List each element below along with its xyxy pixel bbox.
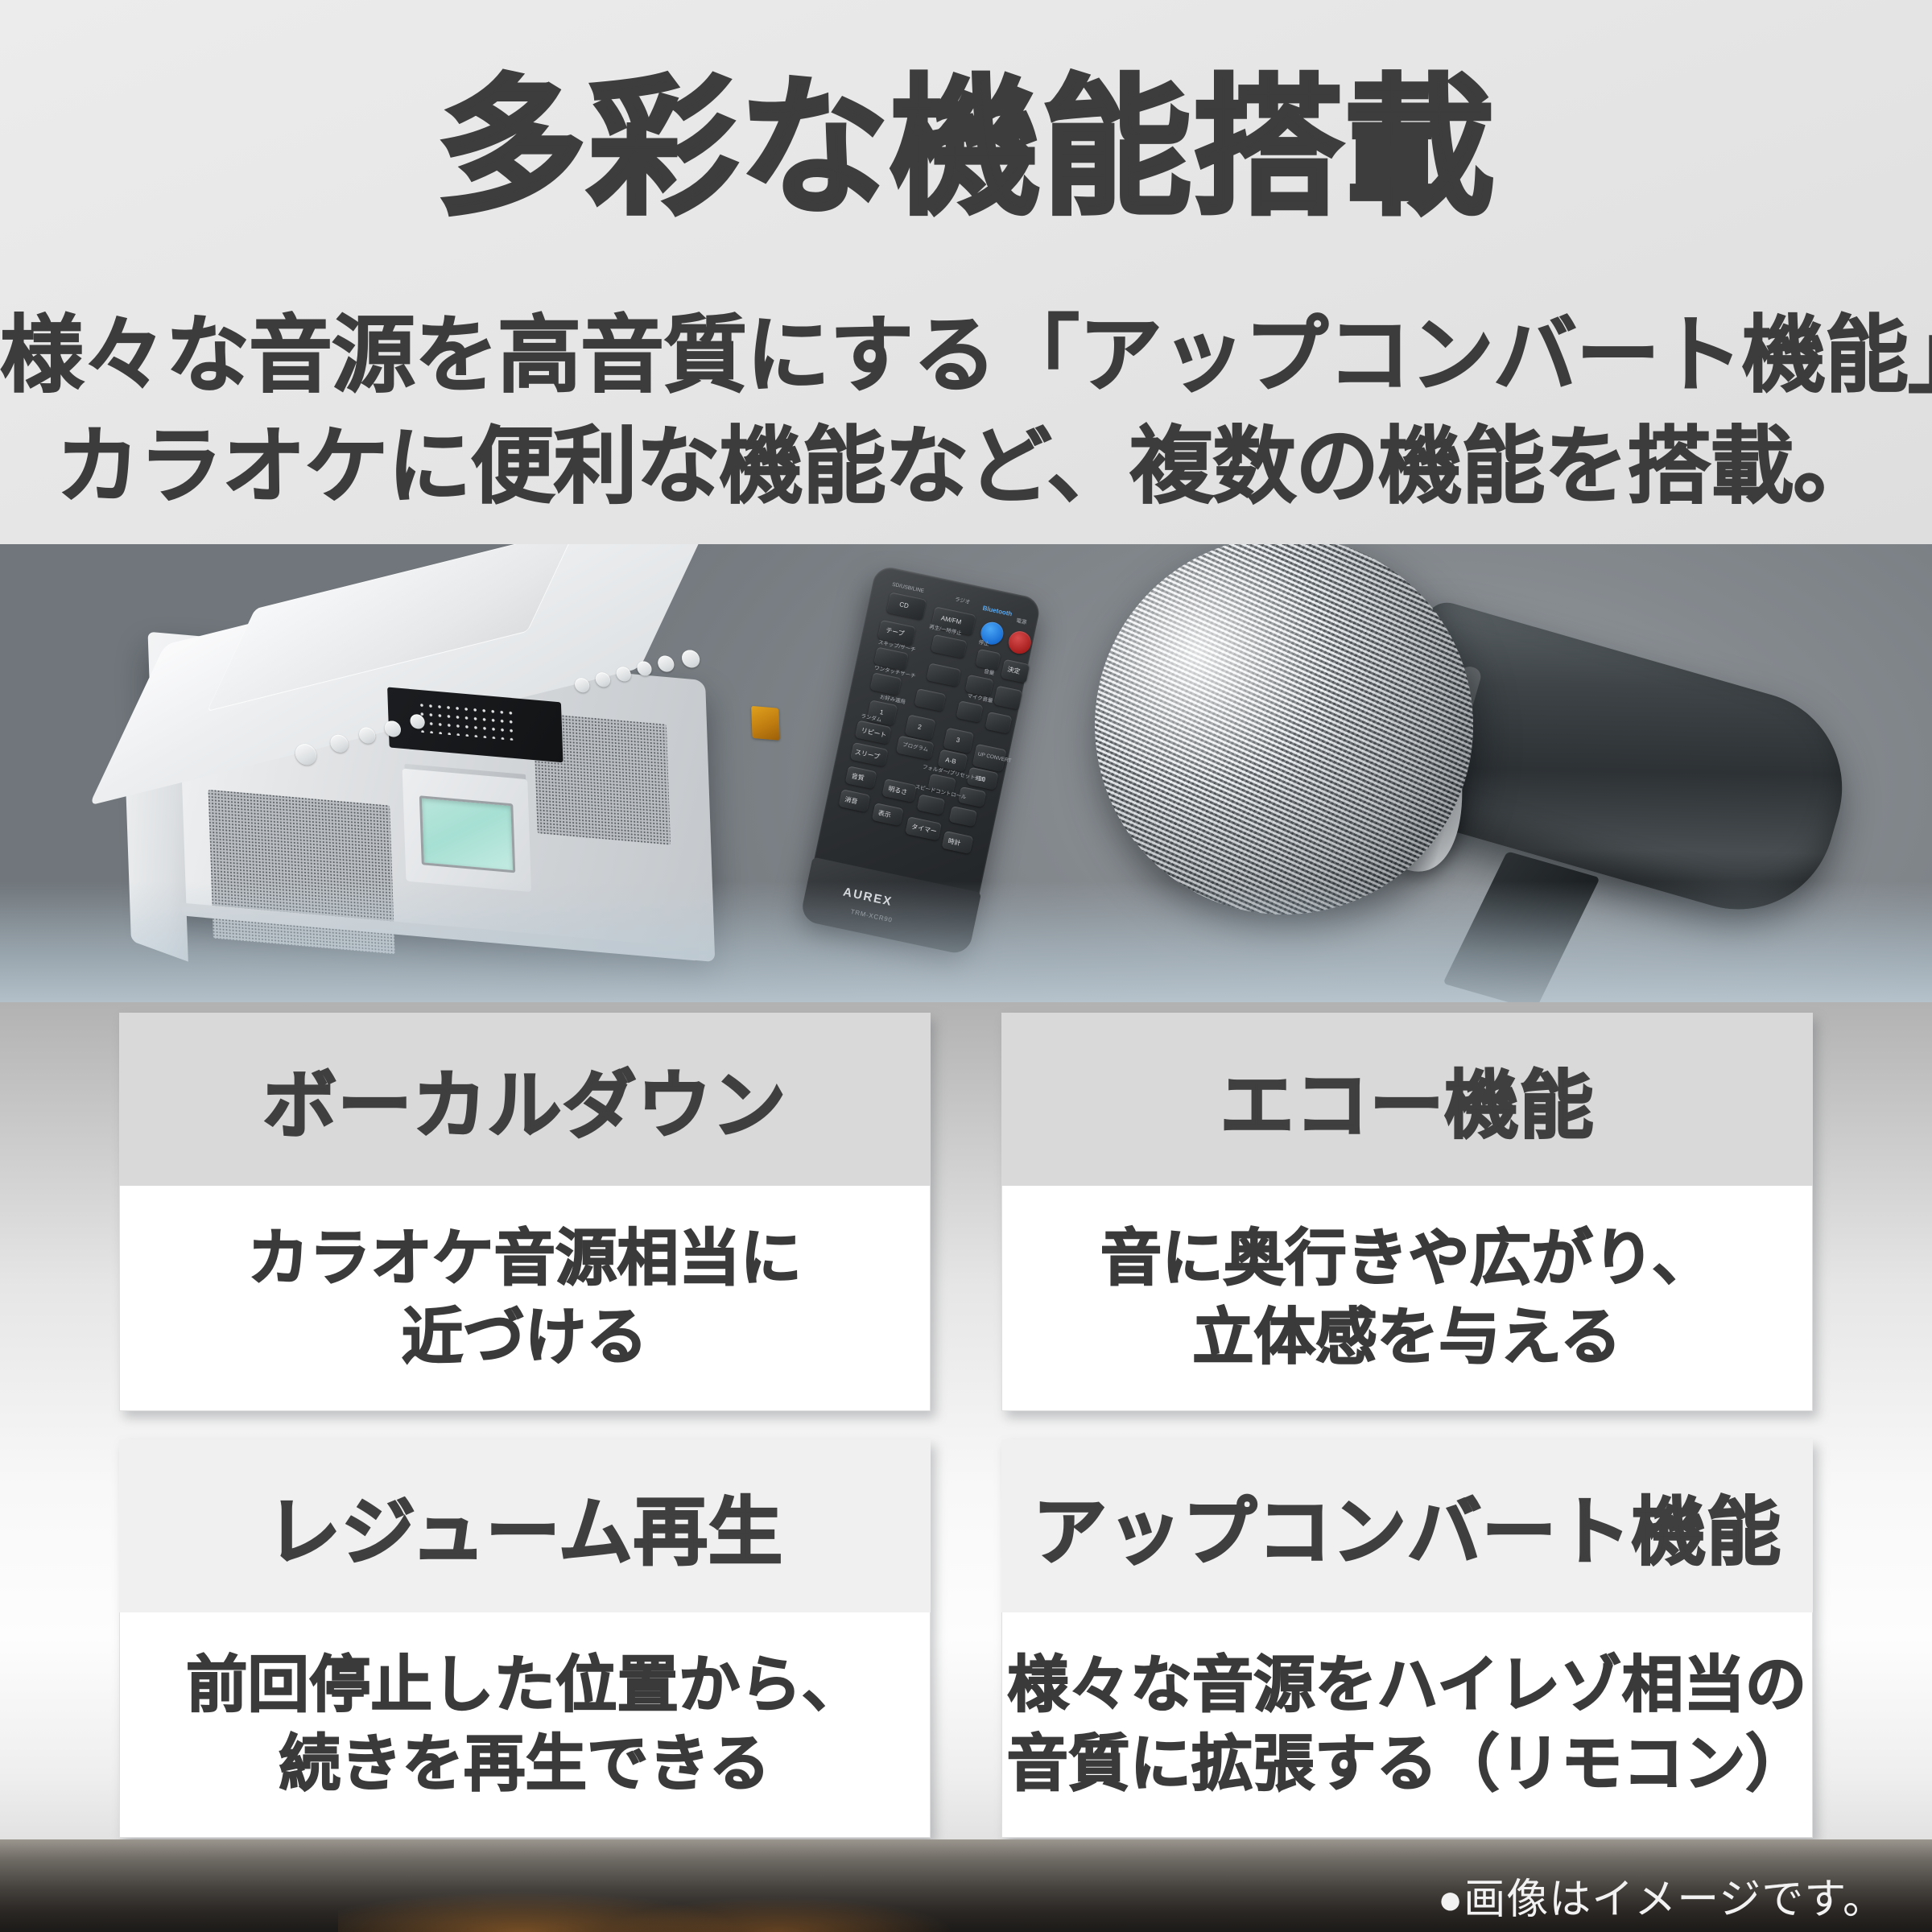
- feature-description: カラオケ音源相当に 近づける: [248, 1220, 803, 1377]
- footer-band: ●画像はイメージです。: [0, 1839, 1932, 1932]
- feature-card-header: エコー機能: [1001, 1013, 1813, 1186]
- boombox-skip-forward-button[interactable]: [658, 655, 675, 673]
- page-title: 多彩な機能搭載: [0, 74, 1932, 224]
- feature-title: レジューム再生: [266, 1472, 783, 1579]
- feature-title: エコー機能: [1220, 1046, 1594, 1153]
- image-disclaimer: ●画像はイメージです。: [1438, 1865, 1885, 1926]
- subtitle-line-1: 様々な音源を高音質にする「アップコンバート機能」や、: [0, 314, 1932, 398]
- boombox-speaker-grille-left: [208, 790, 394, 955]
- feature-card-up-convert[interactable]: アップコンバート機能 様々な音源をハイレゾ相当の 音質に拡張する（リモコン）: [1001, 1439, 1813, 1838]
- subtitle-line-2: カラオケに便利な機能など、複数の機能を搭載。: [0, 425, 1932, 509]
- feature-card-header: アップコンバート機能: [1001, 1439, 1813, 1612]
- feature-card-resume-play[interactable]: レジューム再生 前回停止した位置から、 続きを再生できる: [119, 1439, 931, 1838]
- feature-grid: ボーカルダウン カラオケ音源相当に 近づける エコー機能 音に奥行きや広がり、 …: [119, 1013, 1813, 1838]
- feature-card-body: 音に奥行きや広がり、 立体感を与える: [1001, 1186, 1813, 1411]
- hi-res-audio-badge: [751, 706, 780, 741]
- remote-brand-logo: AUREX: [842, 885, 894, 910]
- feature-card-body: 様々な音源をハイレゾ相当の 音質に拡張する（リモコン）: [1001, 1612, 1813, 1838]
- remote-control-image: SD/USB/LINE ラジオ Bluetooth 電源 CD AM/FM テー…: [802, 564, 1042, 954]
- product-photo-band: SD/USB/LINE ラジオ Bluetooth 電源 CD AM/FM テー…: [0, 544, 1932, 1002]
- boombox-volume-knob[interactable]: [682, 650, 700, 669]
- feature-title: アップコンバート機能: [1033, 1472, 1781, 1579]
- feature-card-vocal-down[interactable]: ボーカルダウン カラオケ音源相当に 近づける: [119, 1013, 931, 1411]
- boombox-base: [181, 902, 699, 960]
- header-band: 多彩な機能搭載 様々な音源を高音質にする「アップコンバート機能」や、 カラオケに…: [0, 0, 1932, 544]
- microphone-stand: [1443, 851, 1600, 1002]
- feature-description: 様々な音源をハイレゾ相当の 音質に拡張する（リモコン）: [1007, 1646, 1808, 1803]
- ad-page: 多彩な機能搭載 様々な音源を高音質にする「アップコンバート機能」や、 カラオケに…: [0, 0, 1932, 1932]
- feature-description: 音に奥行きや広がり、 立体感を与える: [1100, 1220, 1714, 1377]
- feature-card-echo[interactable]: エコー機能 音に奥行きや広がり、 立体感を与える: [1001, 1013, 1813, 1411]
- feature-card-body: カラオケ音源相当に 近づける: [119, 1186, 931, 1411]
- boombox-image: [97, 547, 804, 1002]
- feature-title: ボーカルダウン: [262, 1046, 786, 1153]
- feature-card-body: 前回停止した位置から、 続きを再生できる: [119, 1612, 931, 1838]
- feature-cards-band: ボーカルダウン カラオケ音源相当に 近づける エコー機能 音に奥行きや広がり、 …: [0, 1002, 1932, 1839]
- feature-card-header: レジューム再生: [119, 1439, 931, 1612]
- boombox-lcd-screen: [419, 795, 515, 873]
- feature-card-header: ボーカルダウン: [119, 1013, 931, 1186]
- feature-description: 前回停止した位置から、 続きを再生できる: [186, 1646, 864, 1803]
- microphone-image: [1071, 544, 1932, 1002]
- remote-model-number: TRM-XCR90: [850, 908, 894, 924]
